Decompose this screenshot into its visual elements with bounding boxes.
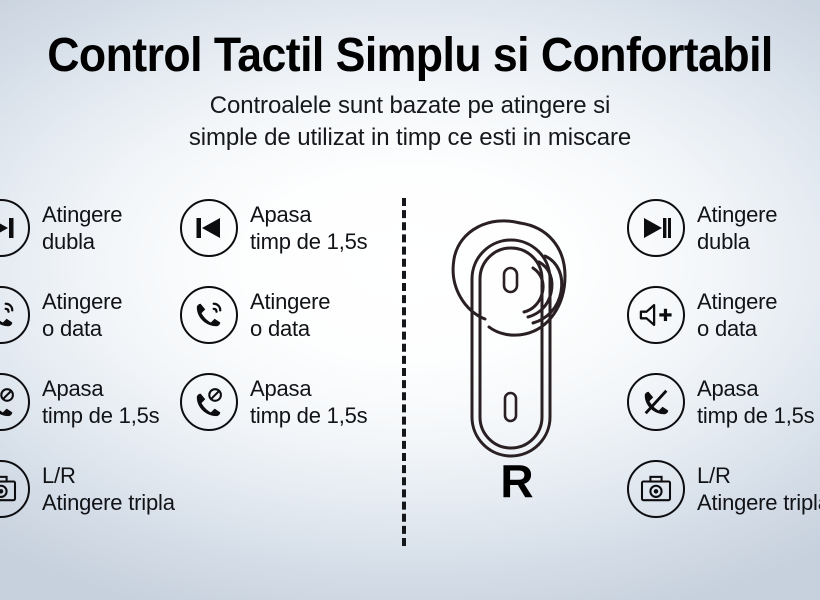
feature-mid-1-label: Apasa timp de 1,5s [250, 201, 367, 255]
next-track-icon [0, 199, 30, 257]
previous-track-icon [180, 199, 238, 257]
page-subtitle: Controalele sunt bazate pe atingere si s… [60, 90, 760, 154]
feature-mid-2[interactable]: Atingere o data [180, 283, 410, 347]
feature-left-4-label: L/R Atingere tripla [42, 462, 175, 516]
feature-left-2[interactable]: Atingere o data [0, 283, 187, 347]
phone-answer-icon [180, 286, 238, 344]
poster-canvas: Control Tactil Simplu si Confortabil Con… [0, 0, 820, 600]
earbud-illustration [432, 196, 602, 496]
feature-right-1[interactable]: Atingere dubla [627, 196, 820, 260]
camera-icon [0, 460, 30, 518]
feature-left-4[interactable]: L/R Atingere tripla [0, 457, 187, 521]
feature-left-2-label: Atingere o data [42, 288, 122, 342]
phone-answer-icon [0, 286, 30, 344]
feature-left-1-label: Atingere dubla [42, 201, 122, 255]
feature-mid-2-label: Atingere o data [250, 288, 330, 342]
feature-mid-3-label: Apasa timp de 1,5s [250, 375, 367, 429]
middle-controls-column: Apasa timp de 1,5s Atingere o data A [180, 196, 410, 457]
feature-right-2-label: Atingere o data [697, 288, 777, 342]
play-pause-icon [627, 199, 685, 257]
camera-icon [627, 460, 685, 518]
feature-right-4[interactable]: L/R Atingere tripla [627, 457, 820, 521]
phone-decline-icon [180, 373, 238, 431]
phone-hangup-icon [627, 373, 685, 431]
earbud-side-label: R [432, 455, 602, 507]
volume-up-icon [627, 286, 685, 344]
feature-right-3-label: Apasa timp de 1,5s [697, 375, 814, 429]
feature-mid-3[interactable]: Apasa timp de 1,5s [180, 370, 410, 434]
feature-right-4-label: L/R Atingere tripla [697, 462, 820, 516]
feature-left-3[interactable]: Apasa timp de 1,5s [0, 370, 187, 434]
left-controls-column: Atingere dubla Atingere o data Apasa [0, 196, 187, 544]
feature-right-1-label: Atingere dubla [697, 201, 777, 255]
vertical-dashed-divider [402, 198, 406, 546]
feature-left-1[interactable]: Atingere dubla [0, 196, 187, 260]
phone-decline-icon [0, 373, 30, 431]
feature-right-3[interactable]: Apasa timp de 1,5s [627, 370, 820, 434]
feature-left-3-label: Apasa timp de 1,5s [42, 375, 159, 429]
feature-right-2[interactable]: Atingere o data [627, 283, 820, 347]
feature-mid-1[interactable]: Apasa timp de 1,5s [180, 196, 410, 260]
right-controls-column: Atingere dubla Atingere o data Apasa tim… [627, 196, 820, 544]
page-title: Control Tactil Simplu si Confortabil [47, 27, 773, 85]
